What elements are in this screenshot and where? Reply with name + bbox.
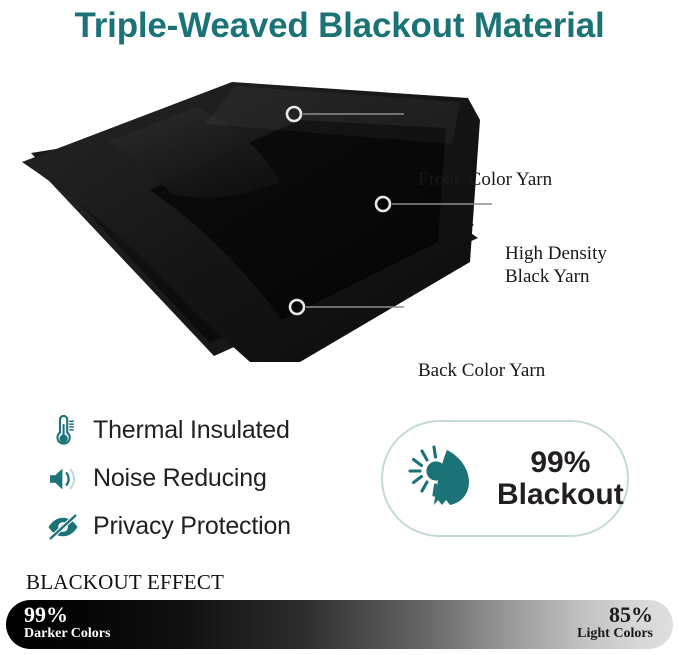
thermometer-icon bbox=[46, 414, 80, 448]
sun-blocked-by-curtain-icon bbox=[405, 442, 483, 516]
page-title: Triple-Weaved Blackout Material bbox=[0, 0, 679, 52]
effect-right-caption: Light Colors bbox=[577, 627, 653, 641]
fabric-layers-graphic bbox=[0, 62, 679, 372]
feature-label: Thermal Insulated bbox=[93, 416, 290, 445]
blackout-word: Blackout bbox=[497, 479, 624, 510]
callout-label-front-color-yarn: Front Color Yarn bbox=[418, 168, 552, 191]
feature-noise-reducing: Noise Reducing bbox=[46, 456, 376, 501]
blackout-effect-heading: BLACKOUT EFFECT bbox=[26, 570, 224, 595]
feature-thermal-insulated: Thermal Insulated bbox=[46, 408, 376, 453]
blackout-badge: 99% Blackout bbox=[381, 420, 629, 537]
callout-label-back-color-yarn: Back Color Yarn bbox=[418, 359, 545, 382]
layer-edge-highlight-2 bbox=[21, 174, 41, 181]
feature-label: Privacy Protection bbox=[93, 512, 291, 541]
feature-label: Noise Reducing bbox=[93, 464, 267, 493]
effect-left-percent: 99% bbox=[24, 604, 110, 626]
feature-list: Thermal Insulated Noise Reducing Privacy… bbox=[46, 408, 376, 552]
fabric-illustration: Front Color Yarn High Density Black Yarn… bbox=[0, 62, 679, 372]
feature-privacy-protection: Privacy Protection bbox=[46, 504, 376, 549]
blackout-percent: 99% bbox=[497, 447, 624, 478]
effect-left-caption: Darker Colors bbox=[24, 627, 110, 641]
blackout-badge-text: 99% Blackout bbox=[497, 447, 624, 509]
speaker-sound-icon bbox=[46, 462, 80, 496]
blackout-effect-gradient-bar: 99% Darker Colors 85% Light Colors bbox=[6, 600, 673, 649]
eye-slash-icon bbox=[46, 510, 80, 544]
effect-right-percent: 85% bbox=[577, 604, 653, 626]
effect-left-group: 99% Darker Colors bbox=[24, 604, 110, 642]
callout-label-high-density-black-yarn: High Density Black Yarn bbox=[505, 242, 607, 288]
effect-right-group: 85% Light Colors bbox=[577, 604, 653, 642]
